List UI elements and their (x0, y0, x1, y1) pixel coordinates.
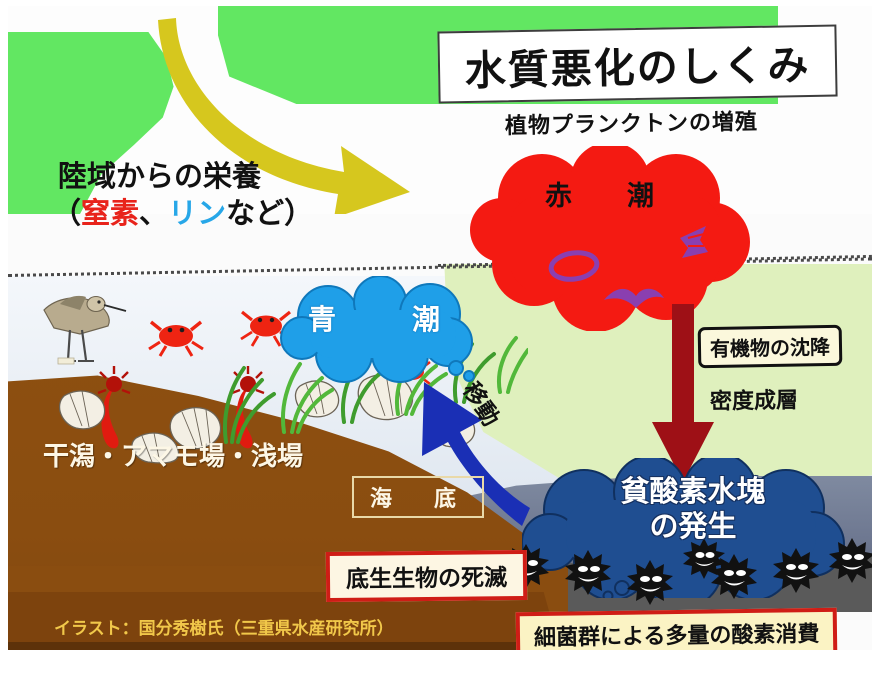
hypoxic-line-2: の発生 (649, 509, 736, 543)
bacteria-icon (565, 550, 611, 595)
paren-open: （ (52, 196, 81, 230)
diagram-canvas: 赤 潮 青 潮 移動 (0, 0, 880, 680)
nutrient-etc: など (226, 196, 284, 230)
hypoxic-line-1: 貧酸素水塊 (620, 474, 765, 508)
bacteria-icon (627, 560, 673, 605)
organic-settling-box: 有機物の沈降 (698, 325, 843, 369)
bacteria-row (508, 536, 872, 616)
shorebird-icon (44, 296, 126, 364)
page-title: 水質悪化のしくみ (464, 31, 811, 97)
tidal-flat-label: 干潟・アマモ場・浅場 (43, 436, 303, 473)
land-nutrient-label: 陸域からの栄養 （窒素、リンなど） (58, 158, 313, 232)
seabed-label-box: 海 底 (352, 476, 484, 518)
illustration-area: 赤 潮 青 潮 移動 (8, 6, 872, 650)
mudflat-shadow (8, 642, 588, 650)
paren-close: ） (284, 196, 313, 230)
blue-tide-label: 青 潮 (308, 298, 464, 338)
oxygen-consumption-box: 細菌群による多量の酸素消費 (516, 608, 838, 650)
red-tide-label: 赤 潮 (545, 174, 668, 213)
subtitle: 植物プランクトンの増殖 (505, 104, 759, 140)
land-nutrient-line1: 陸域からの栄養 (58, 159, 261, 193)
density-stratification-label: 密度成層 (710, 382, 799, 416)
nutrient-separator: 、 (139, 196, 168, 230)
hypoxic-water-label: 貧酸素水塊 の発生 (568, 474, 818, 545)
phosphorus-label: リン (168, 196, 226, 230)
nitrogen-label: 窒素 (81, 196, 139, 230)
bacteria-icon (829, 538, 872, 583)
benthos-death-box: 底生生物の死滅 (326, 550, 528, 602)
crab-icon (149, 322, 203, 356)
title-box: 水質悪化のしくみ (437, 25, 837, 104)
bacteria-icon (773, 548, 819, 593)
land-nutrient-line2: （窒素、リンなど） (52, 195, 313, 232)
illustration-credit: イラスト：国分秀樹氏（三重県水産研究所） (54, 614, 394, 639)
shell-icon (60, 391, 105, 429)
